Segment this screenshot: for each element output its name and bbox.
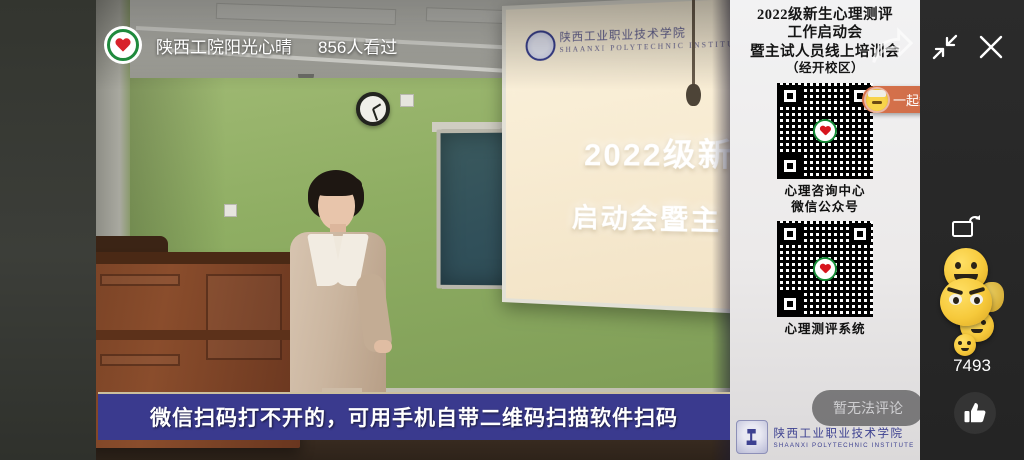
reaction-count: 7493 — [920, 356, 1024, 376]
podium-top — [96, 252, 306, 264]
qr-label-line1: 心理测评系统 — [730, 321, 920, 337]
footer-org-en: SHAANXI POLYTECHNIC INSTITUTE — [774, 442, 915, 449]
slide-title-line2: 启动会暨主 — [572, 197, 722, 239]
emoji-stack-icon[interactable] — [938, 248, 1004, 360]
rotate-screen-icon — [951, 214, 983, 240]
comment-disabled-button[interactable]: 暂无法评论 — [812, 390, 924, 426]
qr-label-counseling: 心理咨询中心 微信公众号 — [730, 183, 920, 216]
subtitle-text: 微信扫码打不开的，可用手机自带二维码扫描软件扫码 — [150, 402, 678, 432]
slide-title-line1: 2022级新 — [584, 128, 730, 175]
share-arrow-icon — [868, 24, 914, 70]
qr-code-assessment[interactable] — [777, 221, 873, 317]
thumbs-up-icon — [962, 400, 988, 426]
avatar[interactable] — [104, 26, 142, 64]
emoji-tiny — [954, 334, 976, 356]
qr-label-assessment: 心理测评系统 — [730, 321, 920, 337]
qr-label-line2: 微信公众号 — [730, 199, 920, 215]
heart-shield-logo-icon — [115, 38, 131, 53]
qr-code-counseling[interactable] — [777, 83, 873, 179]
left-letterbox — [0, 0, 96, 460]
action-rail: 7493 — [920, 0, 1024, 460]
stream-header: 陕西工院阳光心晴 856人看过 — [96, 0, 730, 90]
collapse-button[interactable] — [928, 30, 962, 64]
channel-name[interactable]: 陕西工院阳光心晴 — [156, 33, 292, 58]
school-crest-icon — [736, 420, 768, 454]
collapse-arrows-icon — [931, 33, 959, 61]
subtitle-bar: 微信扫码打不开的，可用手机自带二维码扫描软件扫码 — [98, 392, 730, 440]
podium-shelf — [96, 330, 306, 340]
footer-org-cn: 陕西工业职业技术学院 — [774, 425, 915, 441]
emoji-angry — [940, 278, 992, 326]
like-button[interactable] — [954, 392, 996, 434]
heart-logo-icon — [813, 257, 837, 281]
wall-clock-icon — [356, 92, 390, 126]
presenter — [282, 170, 392, 400]
live-stream-player: 陕西工业职业技术学院 SHAANXI POLYTECHNIC INSTITUTE… — [0, 0, 1024, 460]
rotate-screen-button[interactable] — [950, 212, 984, 242]
heart-logo-icon — [813, 119, 837, 143]
close-icon — [978, 34, 1004, 60]
graduation-emoji-icon — [866, 89, 888, 111]
view-count: 856人看过 — [318, 33, 397, 58]
wall-switch — [400, 94, 414, 107]
wall-socket — [224, 204, 237, 217]
qr-block-assessment[interactable]: 心理测评系统 — [730, 221, 920, 337]
panel-title-line1: 2022级新生心理测评 — [730, 6, 920, 24]
comment-disabled-label: 暂无法评论 — [833, 398, 903, 418]
qr-label-line1: 心理咨询中心 — [730, 183, 920, 199]
close-button[interactable] — [972, 28, 1010, 66]
